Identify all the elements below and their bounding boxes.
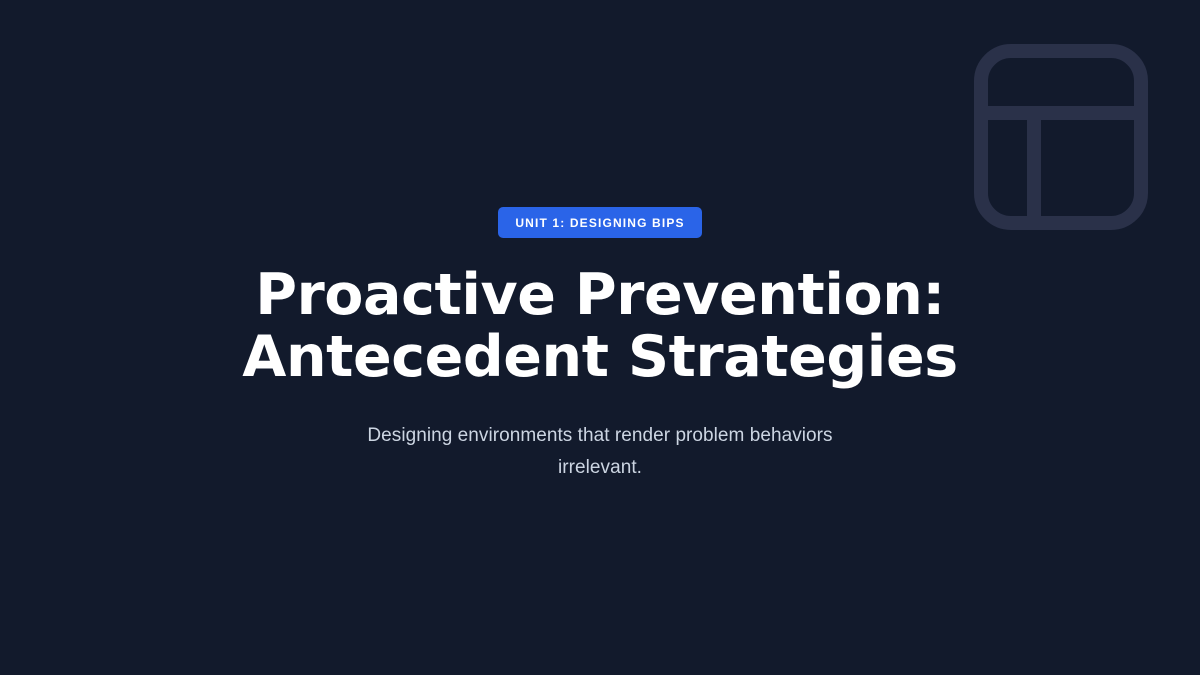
unit-badge: UNIT 1: DESIGNING BIPS (498, 207, 701, 238)
page-title: Proactive Prevention: Antecedent Strateg… (240, 264, 960, 388)
subtitle: Designing environments that render probl… (330, 420, 870, 484)
title-line-2: Antecedent Strategies (242, 324, 957, 390)
title-line-1: Proactive Prevention: (255, 262, 945, 328)
title-slide: UNIT 1: DESIGNING BIPS Proactive Prevent… (0, 0, 1200, 675)
slide-content: UNIT 1: DESIGNING BIPS Proactive Prevent… (0, 0, 1200, 675)
